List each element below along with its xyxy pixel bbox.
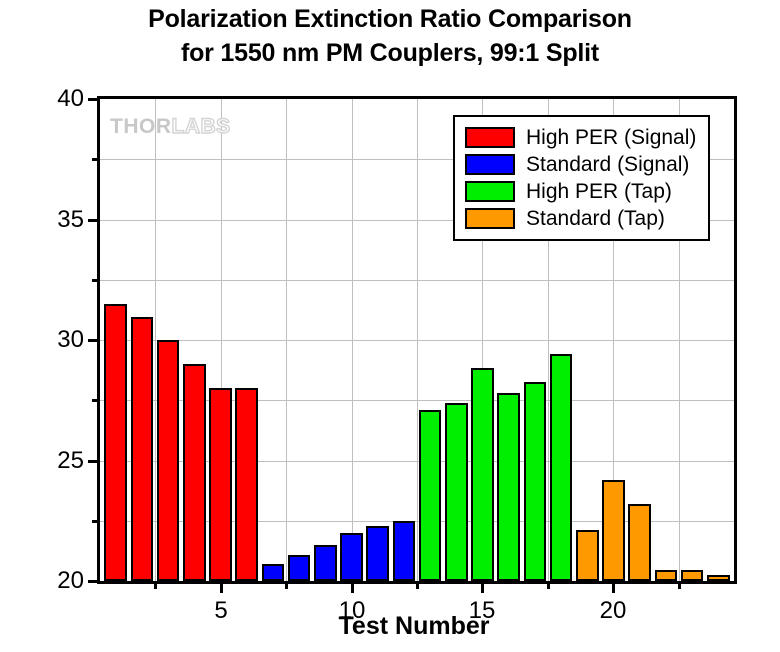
x-tick-major [481,581,484,593]
x-tick-label: 5 [214,597,227,625]
gridline-vertical [352,99,353,581]
y-tick-label: 40 [57,85,84,113]
bar [262,564,285,581]
legend-swatch [465,208,515,229]
x-tick-minor [678,581,681,589]
chart-figure: Polarization Extinction Ratio Comparison… [0,0,780,652]
bar [497,393,520,581]
legend-item: Standard (Tap) [465,205,696,232]
plot-area: THORLABS High PER (Signal)Standard (Sign… [97,96,737,584]
bar [550,354,573,581]
bar [628,504,651,581]
y-tick-label: 35 [57,206,84,234]
legend-label: High PER (Signal) [526,126,696,150]
thorlabs-watermark: THORLABS [110,115,231,139]
bar [576,530,599,581]
bar [104,304,127,581]
bar [314,545,337,581]
bar [288,555,311,582]
x-tick-label: 20 [600,597,627,625]
y-tick-major [88,460,100,463]
y-tick-major [88,98,100,101]
x-axis-title: Test Number [97,612,731,641]
bar [209,388,232,581]
chart-title-line-1: Polarization Extinction Ratio Comparison [148,5,632,33]
bar [602,480,625,581]
y-tick-label: 30 [57,326,84,354]
chart-title-line-2: for 1550 nm PM Couplers, 99:1 Split [0,36,780,70]
bar [340,533,363,581]
x-tick-label: 15 [469,597,496,625]
watermark-labs: LABS [172,115,231,138]
legend-swatch [465,154,515,175]
y-tick-major [88,219,100,222]
x-tick-minor [416,581,419,589]
gridline-vertical [155,99,156,581]
bar [366,526,389,581]
y-axis-title-container: Polarization Extinction Ratio (dB) [0,0,40,652]
x-tick-minor [547,581,550,589]
x-tick-major [612,581,615,593]
x-tick-minor [154,581,157,589]
bar [393,521,416,581]
legend-swatch [465,127,515,148]
x-tick-major [220,581,223,593]
bar [183,364,206,581]
y-tick-minor [92,399,100,402]
bar [681,570,704,581]
bar [131,317,154,581]
bar [157,340,180,581]
bar [445,403,468,581]
gridline-vertical [286,99,287,581]
legend-item: High PER (Signal) [465,124,696,151]
legend-swatch [465,181,515,202]
y-tick-label: 20 [57,567,84,595]
y-tick-label: 25 [57,447,84,475]
legend-label: High PER (Tap) [526,180,672,204]
y-tick-minor [92,279,100,282]
bar [471,368,494,581]
y-tick-major [88,580,100,583]
bar [707,575,730,581]
x-tick-major [351,581,354,593]
plot-inner: THORLABS High PER (Signal)Standard (Sign… [100,99,734,581]
chart-legend: High PER (Signal)Standard (Signal)High P… [453,115,710,241]
legend-label: Standard (Tap) [526,207,665,231]
bar [235,388,258,581]
legend-item: Standard (Signal) [465,151,696,178]
bar [524,382,547,581]
chart-title: Polarization Extinction Ratio Comparison… [0,2,780,70]
y-tick-minor [92,158,100,161]
y-tick-minor [92,520,100,523]
x-tick-minor [285,581,288,589]
bar [655,570,678,581]
y-tick-major [88,339,100,342]
bar [419,410,442,581]
legend-item: High PER (Tap) [465,178,696,205]
legend-label: Standard (Signal) [526,153,689,177]
watermark-thor: THOR [110,115,172,138]
x-tick-label: 10 [339,597,366,625]
